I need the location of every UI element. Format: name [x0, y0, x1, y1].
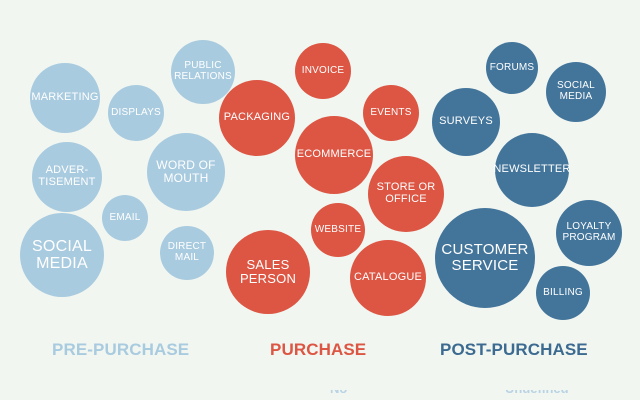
phase-label-purchase: PURCHASE	[270, 340, 366, 360]
bubble-displays[interactable]: DISPLAYS	[108, 85, 164, 141]
bubble-website[interactable]: WEBSITE	[311, 203, 365, 257]
bubble-label: LOYALTY PROGRAM	[560, 222, 617, 244]
bubble-label: SOCIAL MEDIA	[30, 238, 94, 273]
bubble-label: SOCIAL MEDIA	[555, 81, 597, 103]
cutoff-footer-text: No	[330, 390, 347, 396]
bubble-label: DIRECT MAIL	[166, 242, 208, 264]
bubble-label: DISPLAYS	[109, 108, 163, 119]
bubble-label: INVOICE	[300, 66, 347, 77]
bubble-surveys[interactable]: SURVEYS	[432, 88, 500, 156]
cutoff-footer-row: NoUndefined	[0, 390, 640, 400]
bubble-label: FORUMS	[488, 63, 537, 74]
bubble-social-media[interactable]: SOCIAL MEDIA	[20, 213, 104, 297]
bubble-label: WORD OF MOUTH	[154, 159, 217, 185]
bubble-store-or-office[interactable]: STORE OR OFFICE	[368, 156, 444, 232]
bubble-label: ECOMMERCE	[295, 149, 374, 161]
bubble-loyalty-program[interactable]: LOYALTY PROGRAM	[556, 200, 622, 266]
bubble-label: ADVER- TISEMENT	[36, 165, 97, 189]
bubble-events[interactable]: EVENTS	[363, 85, 419, 141]
bubble-direct-mail[interactable]: DIRECT MAIL	[160, 226, 214, 280]
bubble-label: MARKETING	[29, 92, 100, 104]
bubble-social-media[interactable]: SOCIAL MEDIA	[546, 62, 606, 122]
bubble-marketing[interactable]: MARKETING	[30, 63, 100, 133]
bubble-ecommerce[interactable]: ECOMMERCE	[295, 116, 373, 194]
bubble-label: EVENTS	[368, 108, 413, 119]
bubble-customer-service[interactable]: CUSTOMER SERVICE	[435, 208, 535, 308]
bubble-forums[interactable]: FORUMS	[486, 42, 538, 94]
bubble-label: SURVEYS	[437, 116, 495, 128]
bubble-adver-tisement[interactable]: ADVER- TISEMENT	[32, 142, 102, 212]
bubble-billing[interactable]: BILLING	[536, 266, 590, 320]
bubble-sales-person[interactable]: SALES PERSON	[226, 230, 310, 314]
bubble-public-relations[interactable]: PUBLIC RELATIONS	[171, 40, 235, 104]
bubble-label: EMAIL	[107, 213, 142, 224]
bubble-label: NEWSLETTER	[491, 164, 572, 176]
phase-label-post-purchase: POST-PURCHASE	[440, 340, 588, 360]
bubble-label: CATALOGUE	[352, 272, 424, 284]
bubble-label: WEBSITE	[313, 225, 363, 236]
bubble-label: BILLING	[541, 288, 585, 299]
bubble-label: SALES PERSON	[238, 258, 298, 286]
cutoff-footer-text: Undefined	[505, 390, 569, 396]
bubble-label: STORE OR OFFICE	[375, 182, 438, 206]
bubble-invoice[interactable]: INVOICE	[295, 43, 351, 99]
phase-label-pre-purchase: PRE-PURCHASE	[52, 340, 189, 360]
bubble-catalogue[interactable]: CATALOGUE	[350, 240, 426, 316]
bubble-chart-canvas: MARKETINGDISPLAYSPUBLIC RELATIONSADVER- …	[0, 0, 640, 400]
bubble-label: PUBLIC RELATIONS	[172, 61, 234, 83]
bubble-label: CUSTOMER SERVICE	[439, 242, 530, 274]
bubble-word-of-mouth[interactable]: WORD OF MOUTH	[147, 133, 225, 211]
bubble-packaging[interactable]: PACKAGING	[219, 80, 295, 156]
bubble-email[interactable]: EMAIL	[102, 195, 148, 241]
bubble-label: PACKAGING	[222, 112, 292, 124]
bubble-newsletter[interactable]: NEWSLETTER	[495, 133, 569, 207]
